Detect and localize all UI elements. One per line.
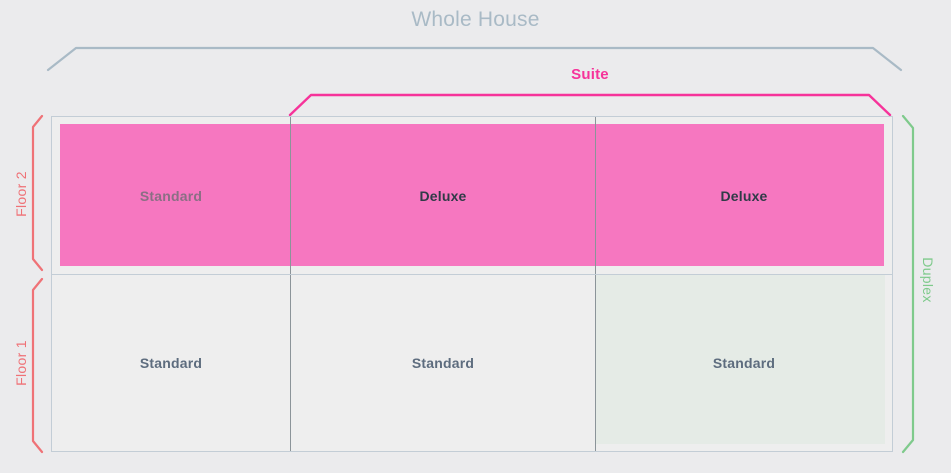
floor-1-bracket-icon xyxy=(33,279,42,452)
floor-2-bracket-icon xyxy=(33,116,42,270)
house-grid: Standard Deluxe Deluxe Standard Standard… xyxy=(51,116,893,452)
room-label: Standard xyxy=(140,188,202,204)
duplex-label: Duplex xyxy=(920,250,936,310)
room-cell-floor2-1[interactable]: Standard xyxy=(52,117,290,274)
room-label: Deluxe xyxy=(419,188,466,204)
floor-2-label: Floor 2 xyxy=(13,164,29,224)
whole-house-label: Whole House xyxy=(0,8,951,32)
floor-row-1: Standard Standard Standard xyxy=(52,275,892,451)
diagram-canvas: Whole House Suite Floor 2 Floor 1 Duplex… xyxy=(0,0,951,473)
room-label: Standard xyxy=(140,355,202,371)
room-label: Standard xyxy=(412,355,474,371)
room-cell-floor1-2[interactable]: Standard xyxy=(290,275,596,451)
room-cell-floor1-1[interactable]: Standard xyxy=(52,275,290,451)
suite-bracket-icon xyxy=(290,95,890,115)
room-label: Standard xyxy=(713,355,775,371)
room-cell-floor1-3[interactable]: Standard xyxy=(596,275,892,451)
room-cell-floor2-2[interactable]: Deluxe xyxy=(290,117,596,274)
duplex-bracket-icon xyxy=(903,116,913,452)
floor-row-2: Standard Deluxe Deluxe xyxy=(52,117,892,275)
room-cell-floor2-3[interactable]: Deluxe xyxy=(596,117,892,274)
room-label: Deluxe xyxy=(720,188,767,204)
suite-label: Suite xyxy=(290,66,890,83)
floor-1-label: Floor 1 xyxy=(13,333,29,393)
